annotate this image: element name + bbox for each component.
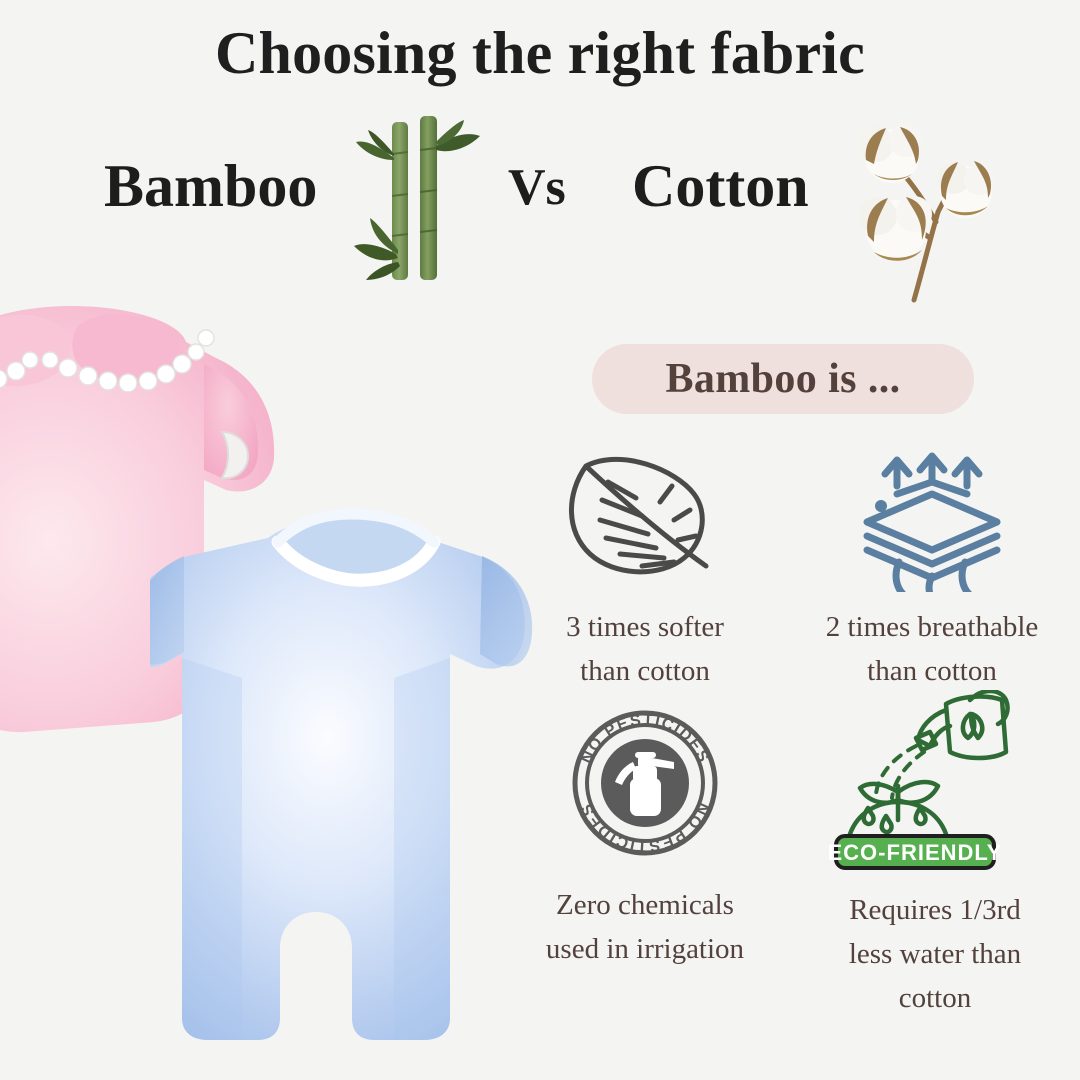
comparison-row: Bamboo Vs Cotton bbox=[0, 138, 1080, 258]
benefit-no-pesticides: NO PESTICIDES NO PESTICIDES Zero chemica… bbox=[500, 706, 790, 971]
benefit-less-water-caption: Requires 1/3rd less water than cotton bbox=[790, 888, 1080, 1020]
no-pesticides-badge-icon: NO PESTICIDES NO PESTICIDES bbox=[500, 706, 790, 861]
watering-can-plant-icon: ECO-FRIENDLY bbox=[790, 690, 1080, 880]
section-heading-pill: Bamboo is ... bbox=[592, 344, 974, 414]
benefit-softer: 3 times softer than cotton bbox=[500, 442, 790, 693]
blue-baby-romper-illustration bbox=[150, 498, 550, 1060]
eco-friendly-badge-text: ECO-FRIENDLY bbox=[828, 840, 1003, 865]
infographic-canvas: Choosing the right fabric bbox=[0, 0, 1080, 1080]
page-title: Choosing the right fabric bbox=[0, 22, 1080, 85]
comparison-left-label: Bamboo bbox=[104, 156, 317, 216]
benefit-breathable: 2 times breathable than cotton bbox=[782, 442, 1080, 693]
breathable-layers-icon bbox=[782, 442, 1080, 597]
section-heading-text: Bamboo is ... bbox=[665, 355, 900, 403]
comparison-right-label: Cotton bbox=[632, 156, 809, 216]
benefit-softer-caption: 3 times softer than cotton bbox=[500, 605, 790, 693]
comparison-versus-label: Vs bbox=[508, 162, 566, 214]
benefit-no-pesticides-caption: Zero chemicals used in irrigation bbox=[500, 883, 790, 971]
feather-icon bbox=[500, 442, 790, 597]
benefit-less-water: ECO-FRIENDLY Requires 1/3rd less water t… bbox=[790, 690, 1080, 1020]
benefit-breathable-caption: 2 times breathable than cotton bbox=[782, 605, 1080, 693]
